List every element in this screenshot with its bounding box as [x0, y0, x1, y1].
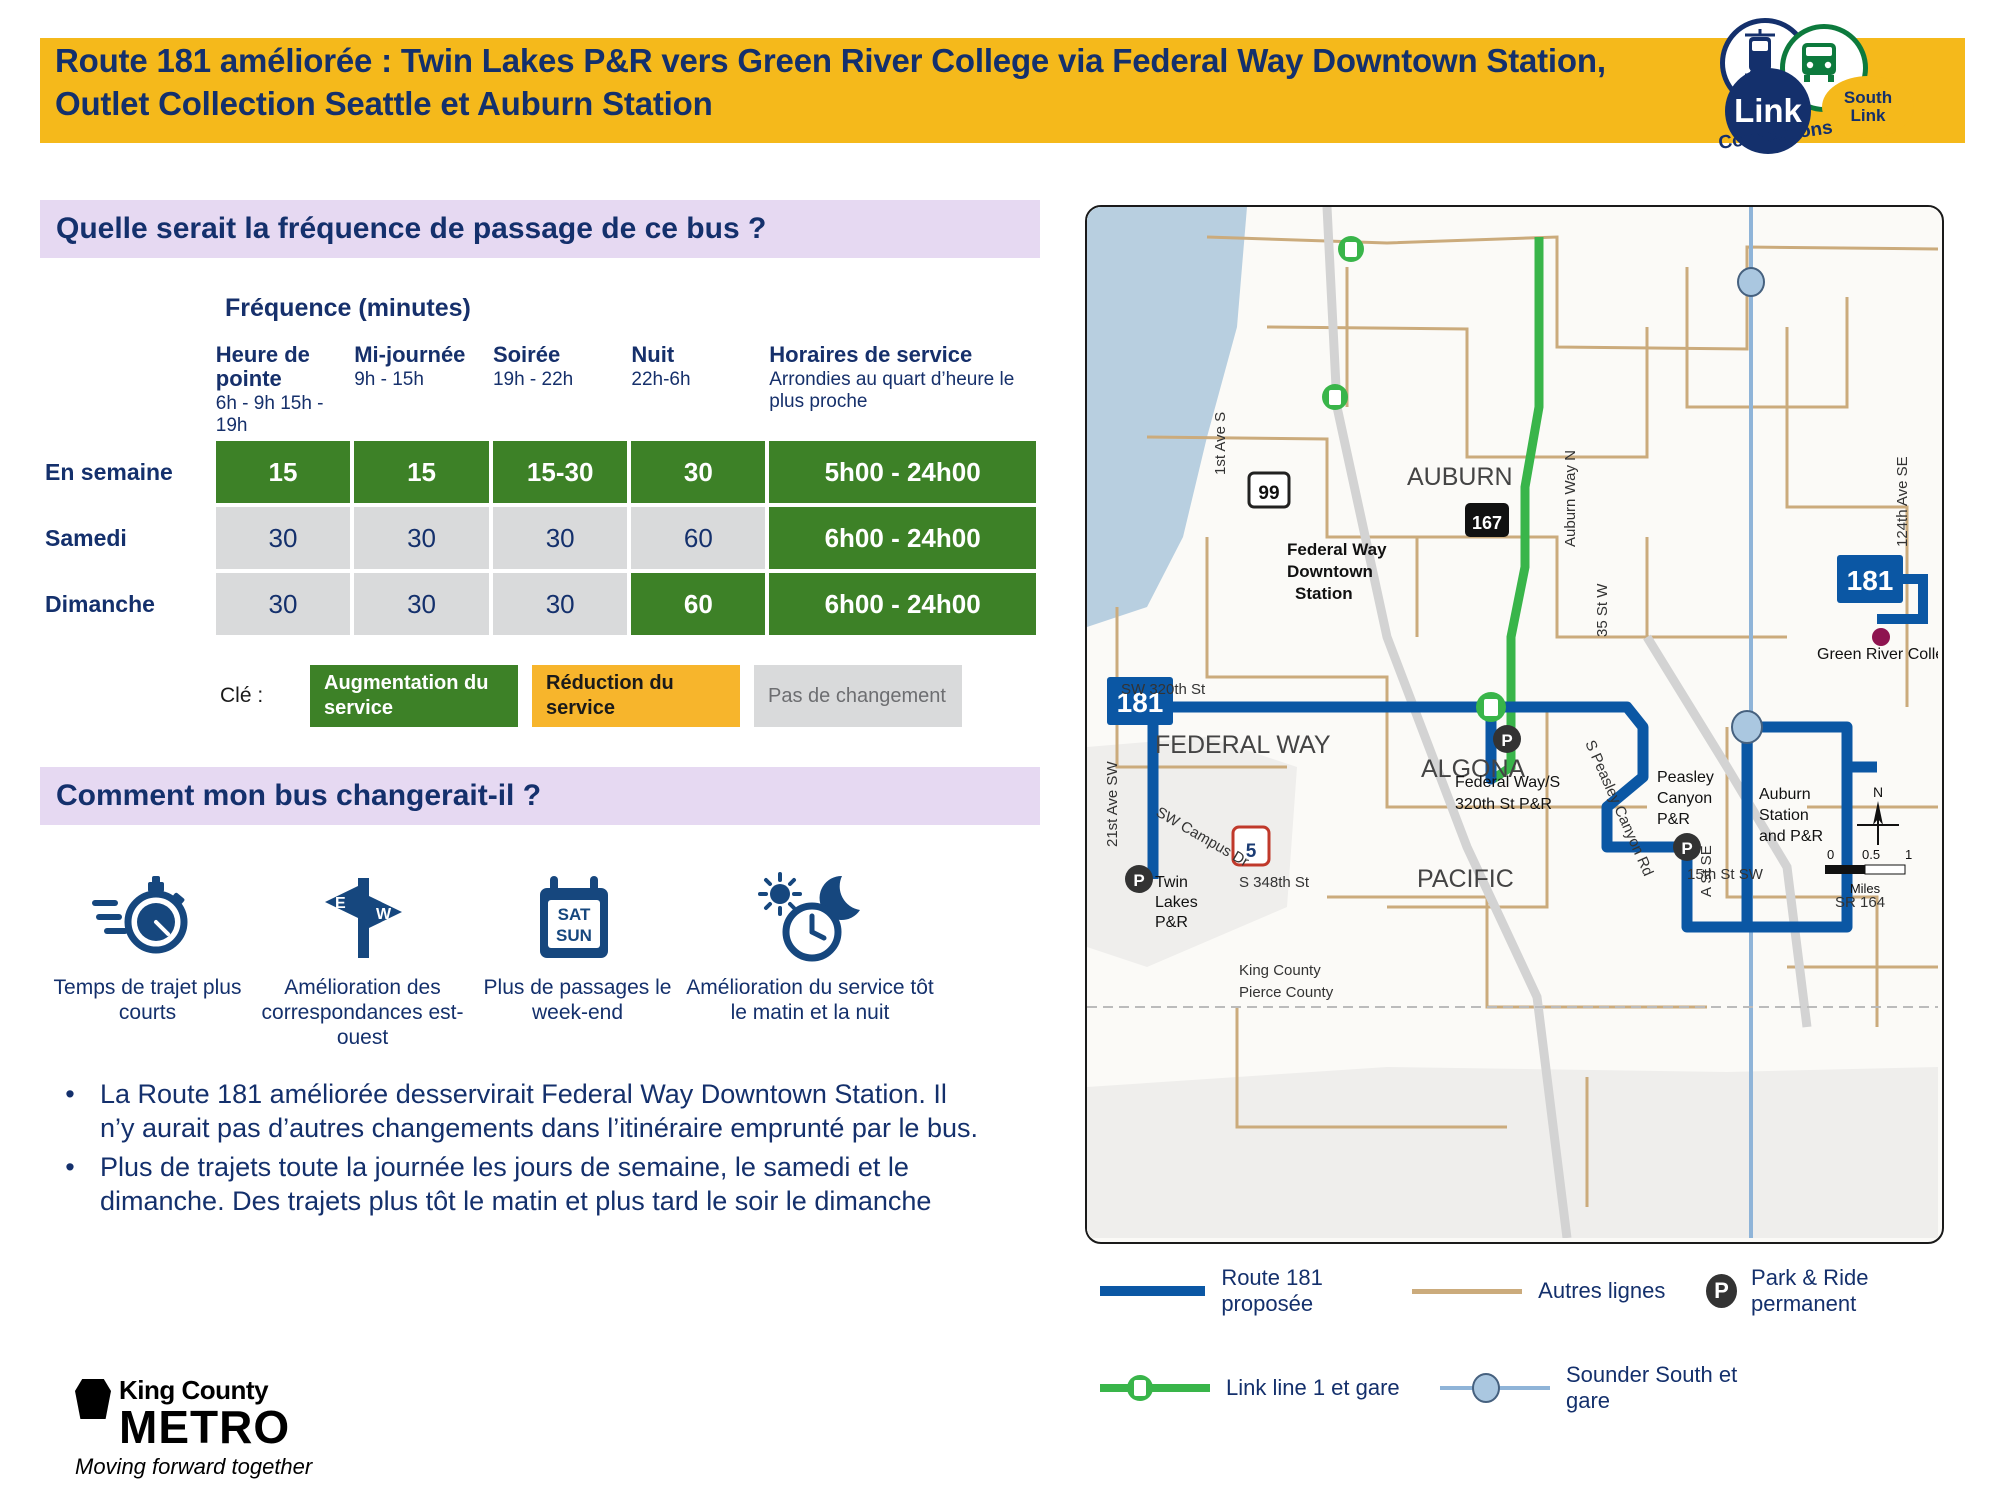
svg-text:SR 164: SR 164 — [1835, 894, 1885, 911]
row-label-weekday: En semaine — [44, 441, 212, 503]
logo-south-label: South — [1844, 89, 1892, 107]
legend-label: Autres lignes — [1538, 1278, 1665, 1304]
signpost-east-west-icon: E W — [255, 865, 470, 965]
calendar-sat-sun-icon: SAT SUN — [470, 865, 685, 965]
benefit-early-late: Amélioration du service tôt le matin et … — [685, 865, 935, 1051]
svg-text:S 348th St: S 348th St — [1239, 874, 1310, 891]
svg-text:21st Ave SW: 21st Ave SW — [1104, 761, 1121, 847]
cell-sunday-night: 60 — [631, 573, 765, 635]
other-line-swatch — [1412, 1289, 1522, 1294]
benefit-icons-row: Temps de trajet plus courts E W Améliora… — [40, 865, 1045, 1051]
svg-text:124th Ave SE: 124th Ave SE — [1894, 456, 1911, 547]
sun-moon-clock-icon — [685, 865, 935, 965]
link-connections-logo: Link South Link Connections — [1700, 6, 1970, 151]
svg-text:0.5: 0.5 — [1862, 847, 1880, 862]
bullet-marker: • — [40, 1150, 100, 1219]
svg-text:Twin: Twin — [1155, 874, 1188, 891]
svg-text:A St SE: A St SE — [1698, 845, 1715, 897]
svg-text:Station: Station — [1295, 584, 1353, 603]
legend-item-other-lines: Autres lignes — [1412, 1278, 1706, 1304]
svg-text:Federal Way/S: Federal Way/S — [1455, 774, 1560, 791]
svg-text:Miles: Miles — [1850, 881, 1881, 896]
legend-label: Sounder South et gare — [1566, 1362, 1760, 1415]
svg-text:Auburn Way N: Auburn Way N — [1562, 450, 1579, 547]
cell-weekday-evening: 15-30 — [493, 441, 627, 503]
svg-text:Federal Way: Federal Way — [1287, 540, 1387, 559]
row-label-sunday: Dimanche — [44, 573, 212, 635]
svg-text:PACIFIC: PACIFIC — [1417, 865, 1514, 893]
cell-saturday-hours: 6h00 - 24h00 — [769, 507, 1036, 569]
svg-text:Auburn: Auburn — [1759, 786, 1811, 803]
legend-item-park-and-ride: P Park & Ride permanent — [1706, 1265, 1960, 1318]
svg-text:King County: King County — [1239, 962, 1321, 979]
legend-label: Link line 1 et gare — [1226, 1375, 1400, 1401]
table-header-row: Heure de pointe 6h - 9h 15h - 19h Mi-jou… — [44, 343, 1036, 437]
map-legend: Route 181 proposée Autres lignes P Park … — [1100, 1265, 1960, 1459]
column-header-evening: Soirée 19h - 22h — [493, 343, 627, 437]
benefit-caption: Amélioration des correspondances est-oue… — [255, 975, 470, 1051]
metro-word-label: METRO — [119, 1406, 405, 1450]
sounder-station-icon — [1440, 1373, 1550, 1403]
bullet-list: • La Route 181 améliorée desservirait Fe… — [40, 1077, 1045, 1219]
stopwatch-icon — [40, 865, 255, 965]
cell-weekday-midday: 15 — [354, 441, 489, 503]
legend-key: Clé : Augmentation du service Réduction … — [220, 665, 1045, 727]
frequency-section-heading: Quelle serait la fréquence de passage de… — [40, 200, 1040, 258]
cell-sunday-peak: 30 — [216, 573, 350, 635]
table-row: Dimanche 30 30 30 60 6h00 - 24h00 — [44, 573, 1036, 635]
cell-weekday-night: 30 — [631, 441, 765, 503]
svg-text:P: P — [1681, 839, 1692, 858]
benefit-caption: Temps de trajet plus courts — [40, 975, 255, 1025]
svg-text:FEDERAL WAY: FEDERAL WAY — [1155, 731, 1331, 759]
frequency-table-title: Fréquence (minutes) — [225, 294, 1045, 323]
key-decrease: Réduction du service — [532, 665, 740, 727]
cell-sunday-midday: 30 — [354, 573, 489, 635]
bullet-marker: • — [40, 1077, 100, 1146]
cell-weekday-peak: 15 — [216, 441, 350, 503]
row-label-saturday: Samedi — [44, 507, 212, 569]
route-line-swatch — [1100, 1286, 1205, 1296]
table-row: Samedi 30 30 30 60 6h00 - 24h00 — [44, 507, 1036, 569]
svg-text:P&R: P&R — [1155, 914, 1188, 931]
legend-row-2: Link line 1 et gare Sounder South et gar… — [1100, 1362, 1960, 1415]
svg-text:Peasley: Peasley — [1657, 769, 1714, 786]
svg-text:Downtown: Downtown — [1287, 562, 1373, 581]
bullet-text: La Route 181 améliorée desservirait Fede… — [100, 1077, 980, 1146]
svg-text:1st Ave S: 1st Ave S — [1212, 412, 1229, 475]
svg-text:N: N — [1873, 784, 1883, 800]
legend-label: Route 181 proposée — [1221, 1265, 1412, 1318]
king-county-crest-icon — [75, 1379, 111, 1419]
cell-saturday-evening: 30 — [493, 507, 627, 569]
cell-saturday-midday: 30 — [354, 507, 489, 569]
svg-text:and P&R: and P&R — [1759, 828, 1823, 845]
benefit-travel-time: Temps de trajet plus courts — [40, 865, 255, 1051]
svg-text:Pierce County: Pierce County — [1239, 984, 1334, 1001]
svg-text:181: 181 — [1847, 565, 1894, 596]
column-header-service-hours: Horaires de service Arrondies au quart d… — [769, 343, 1036, 437]
page-title: Route 181 améliorée : Twin Lakes P&R ver… — [55, 40, 1615, 140]
svg-text:W: W — [376, 906, 392, 923]
key-no-change: Pas de changement — [754, 665, 962, 727]
table-row: En semaine 15 15 15-30 30 5h00 - 24h00 — [44, 441, 1036, 503]
svg-text:Lakes: Lakes — [1155, 894, 1198, 911]
svg-text:E: E — [335, 895, 346, 912]
svg-text:1: 1 — [1905, 847, 1912, 862]
svg-text:SAT: SAT — [557, 905, 590, 924]
svg-text:167: 167 — [1472, 513, 1502, 533]
svg-text:P: P — [1501, 731, 1512, 750]
benefit-connections: E W Amélioration des correspondances est… — [255, 865, 470, 1051]
column-header-peak: Heure de pointe 6h - 9h 15h - 19h — [216, 343, 350, 437]
link-station-icon — [1100, 1373, 1210, 1403]
svg-text:SUN: SUN — [556, 926, 592, 945]
list-item: • Plus de trajets toute la journée les j… — [40, 1150, 1045, 1219]
cell-saturday-night: 60 — [631, 507, 765, 569]
benefit-weekend: SAT SUN Plus de passages le week-end — [470, 865, 685, 1051]
svg-text:AUBURN: AUBURN — [1407, 463, 1513, 491]
legend-item-link-line: Link line 1 et gare — [1100, 1373, 1440, 1403]
legend-row-1: Route 181 proposée Autres lignes P Park … — [1100, 1265, 1960, 1318]
legend-item-sounder: Sounder South et gare — [1440, 1362, 1760, 1415]
header-corner-blank — [44, 343, 212, 437]
key-label: Clé : — [220, 684, 310, 708]
svg-text:P&R: P&R — [1657, 811, 1690, 828]
park-and-ride-icon: P — [1706, 1274, 1737, 1308]
benefit-caption: Plus de passages le week-end — [470, 975, 685, 1025]
cell-saturday-peak: 30 — [216, 507, 350, 569]
frequency-table: Heure de pointe 6h - 9h 15h - 19h Mi-jou… — [40, 339, 1040, 639]
svg-text:320th St P&R: 320th St P&R — [1455, 796, 1552, 813]
cell-sunday-evening: 30 — [493, 573, 627, 635]
bullet-text: Plus de trajets toute la journée les jou… — [100, 1150, 980, 1219]
route-map[interactable]: 181 181 P P P — [1085, 205, 1944, 1244]
svg-text:99: 99 — [1258, 483, 1279, 504]
svg-text:Canyon: Canyon — [1657, 790, 1712, 807]
svg-text:Station: Station — [1759, 807, 1809, 824]
metro-tagline: Moving forward together — [75, 1454, 405, 1480]
benefit-caption: Amélioration du service tôt le matin et … — [685, 975, 935, 1025]
changes-section-heading: Comment mon bus changerait-il ? — [40, 767, 1040, 825]
svg-text:SW 320th St: SW 320th St — [1121, 681, 1206, 698]
key-increase: Augmentation du service — [310, 665, 518, 727]
column-header-midday: Mi-journée 9h - 15h — [354, 343, 489, 437]
svg-text:P: P — [1133, 871, 1144, 890]
svg-text:Green River College: Green River College — [1817, 646, 1938, 663]
list-item: • La Route 181 améliorée desservirait Fe… — [40, 1077, 1045, 1146]
cell-weekday-hours: 5h00 - 24h00 — [769, 441, 1036, 503]
cell-sunday-hours: 6h00 - 24h00 — [769, 573, 1036, 635]
logo-link-small-label: Link — [1851, 107, 1886, 125]
svg-text:0: 0 — [1827, 847, 1834, 862]
legend-item-route-181: Route 181 proposée — [1100, 1265, 1412, 1318]
king-county-metro-logo: King County METRO Moving forward togethe… — [75, 1375, 405, 1480]
svg-text:35 St W: 35 St W — [1594, 583, 1611, 637]
legend-label: Park & Ride permanent — [1751, 1265, 1960, 1318]
column-header-night: Nuit 22h-6h — [631, 343, 765, 437]
